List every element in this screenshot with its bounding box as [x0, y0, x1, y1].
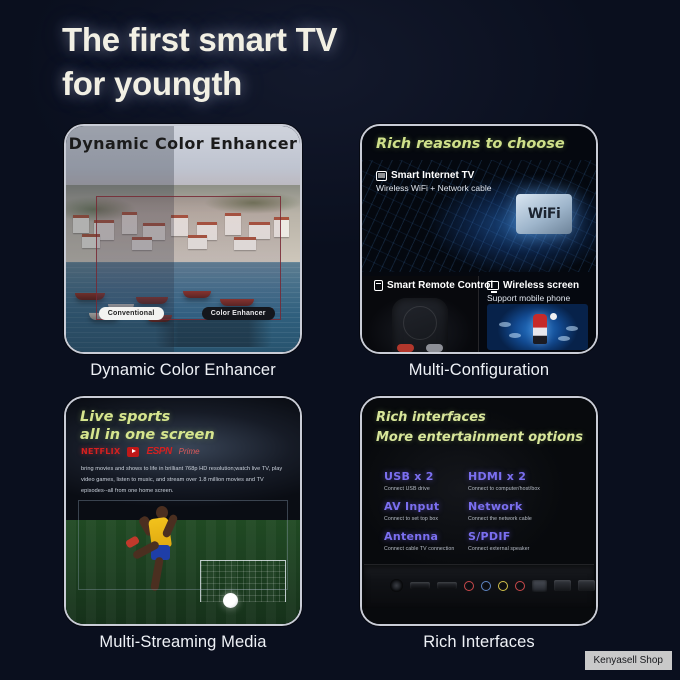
remote-mute-button: [426, 344, 443, 352]
mini-screen: [487, 304, 588, 350]
port-row: Antenna Connect cable TV connection S/PD…: [384, 530, 574, 552]
netflix-logo: NETFLIX: [81, 447, 120, 456]
usb-port: [554, 580, 571, 591]
port-desc: Connect cable TV connection: [384, 546, 468, 552]
hdmi-port: [437, 582, 457, 589]
title-line-1: Rich interfaces: [376, 408, 583, 428]
stadium-photo: Live sports all in one screen NETFLIX ES…: [66, 398, 300, 624]
feature-grid: Conventional Color Enhancer Dynamic Colo…: [64, 124, 618, 672]
rca-blue-port: [481, 581, 491, 591]
port-name: AV Input: [384, 500, 468, 513]
headline-line-1: The first smart TV: [62, 18, 582, 62]
title-line-1: Live sports: [80, 408, 215, 426]
card-multi-streaming-media[interactable]: Live sports all in one screen NETFLIX ES…: [64, 396, 302, 626]
screen-icon: [487, 281, 499, 290]
label-conventional: Conventional: [99, 307, 164, 320]
multi-configuration-content: Rich reasons to choose WiFi Smart Intern…: [362, 126, 596, 352]
rj45-port: [532, 580, 547, 592]
wifi-chip-icon: WiFi: [516, 194, 572, 234]
port-item-spdif: S/PDIF Connect external speaker: [468, 530, 574, 552]
player-figure: [533, 314, 547, 344]
port-desc: Connect USB drive: [384, 486, 468, 492]
port-desc: Connect external speaker: [468, 546, 574, 552]
youtube-logo: [127, 447, 139, 457]
interfaces-content: Rich interfaces More entertainment optio…: [362, 398, 596, 624]
card-multi-configuration[interactable]: Rich reasons to choose WiFi Smart Intern…: [360, 124, 598, 354]
port-name: HDMI x 2: [468, 470, 574, 483]
feature-cell-interfaces: Rich interfaces More entertainment optio…: [360, 396, 598, 652]
port-item-hdmi: HDMI x 2 Connect to computer/host/box: [468, 470, 574, 492]
tv-stand: [155, 320, 272, 347]
promo-page: The first smart TV for youngth: [0, 0, 680, 680]
card-title-rich-interfaces: Rich interfaces More entertainment optio…: [376, 408, 583, 448]
feature-subtitle: Wireless WiFi + Network cable: [376, 183, 491, 193]
port-name: USB x 2: [384, 470, 468, 483]
hdmi-port: [410, 582, 430, 589]
label-color-enhancer: Color Enhancer: [202, 307, 275, 320]
port-item-av-input: AV Input Connect to set top box: [384, 500, 468, 522]
usb-port: [578, 580, 595, 591]
rca-red-port: [515, 581, 525, 591]
rca-red-port: [464, 581, 474, 591]
caption-color-enhancer: Dynamic Color Enhancer: [64, 361, 302, 380]
streaming-service-logos: NETFLIX ESPN Prime: [81, 446, 200, 457]
prime-video-logo: Prime: [179, 447, 200, 456]
port-name: S/PDIF: [468, 530, 574, 543]
feature-cell-color-enhancer: Conventional Color Enhancer Dynamic Colo…: [64, 124, 302, 380]
title-line-2: all in one screen: [80, 426, 215, 444]
port-name: Antenna: [384, 530, 468, 543]
port-desc: Connect to set top box: [384, 516, 468, 522]
coax-port: [390, 579, 403, 592]
port-name: Network: [468, 500, 574, 513]
card-title-color-enhancer: Dynamic Color Enhancer: [66, 134, 300, 153]
page-title: The first smart TV for youngth: [62, 18, 582, 106]
caption-rich-interfaces: Rich Interfaces: [360, 633, 598, 652]
feature-cell-streaming: Live sports all in one screen NETFLIX ES…: [64, 396, 302, 652]
remote-dpad-ring: [403, 306, 437, 340]
remote-power-button: [397, 344, 414, 352]
port-item-antenna: Antenna Connect cable TV connection: [384, 530, 468, 552]
tv-connector-panel: [364, 564, 594, 608]
port-row: USB x 2 Connect USB drive HDMI x 2 Conne…: [384, 470, 574, 492]
football: [223, 593, 238, 608]
card-rich-interfaces[interactable]: Rich interfaces More entertainment optio…: [360, 396, 598, 626]
card-color-enhancer[interactable]: Conventional Color Enhancer Dynamic Colo…: [64, 124, 302, 354]
village-photo: Conventional Color Enhancer Dynamic Colo…: [66, 126, 300, 352]
feature-title: Smart Internet TV: [391, 170, 474, 181]
watermark: Kenyasell Shop: [585, 651, 673, 670]
feature-wireless-screen: Wireless screen Support mobile phone: [487, 280, 579, 303]
feature-smart-remote-control: Smart Remote Control: [374, 280, 493, 291]
port-item-network: Network Connect the network cable: [468, 500, 574, 522]
card-title-live-sports: Live sports all in one screen: [80, 408, 215, 444]
headline-line-2: for youngth: [62, 62, 582, 106]
connector-strip: [390, 579, 578, 592]
caption-multi-configuration: Multi-Configuration: [360, 361, 598, 380]
remote-control: [392, 298, 448, 354]
remote-icon: [374, 280, 383, 291]
port-list: USB x 2 Connect USB drive HDMI x 2 Conne…: [384, 470, 574, 560]
port-desc: Connect the network cable: [468, 516, 574, 522]
card-title-rich-reasons: Rich reasons to choose: [376, 136, 565, 152]
feature-title: Wireless screen: [503, 280, 579, 291]
feature-cell-multi-configuration: Rich reasons to choose WiFi Smart Intern…: [360, 124, 598, 380]
port-desc: Connect to computer/host/box: [468, 486, 574, 492]
feature-title: Smart Remote Control: [387, 280, 493, 291]
football: [550, 313, 557, 320]
title-line-2: More entertainment options: [376, 428, 583, 448]
caption-multi-streaming-media: Multi-Streaming Media: [64, 633, 302, 652]
espn-logo: ESPN: [146, 446, 171, 457]
rca-yellow-port: [498, 581, 508, 591]
enhanced-region-frame: [96, 196, 281, 320]
port-row: AV Input Connect to set top box Network …: [384, 500, 574, 522]
tv-icon: [376, 171, 387, 181]
feature-smart-internet-tv: Smart Internet TV Wireless WiFi + Networ…: [376, 170, 491, 193]
streaming-description: bring movies and shows to life in brilli…: [81, 464, 286, 497]
feature-subtitle: Support mobile phone: [487, 293, 579, 303]
port-item-usb: USB x 2 Connect USB drive: [384, 470, 468, 492]
screen-frame: [78, 500, 289, 590]
